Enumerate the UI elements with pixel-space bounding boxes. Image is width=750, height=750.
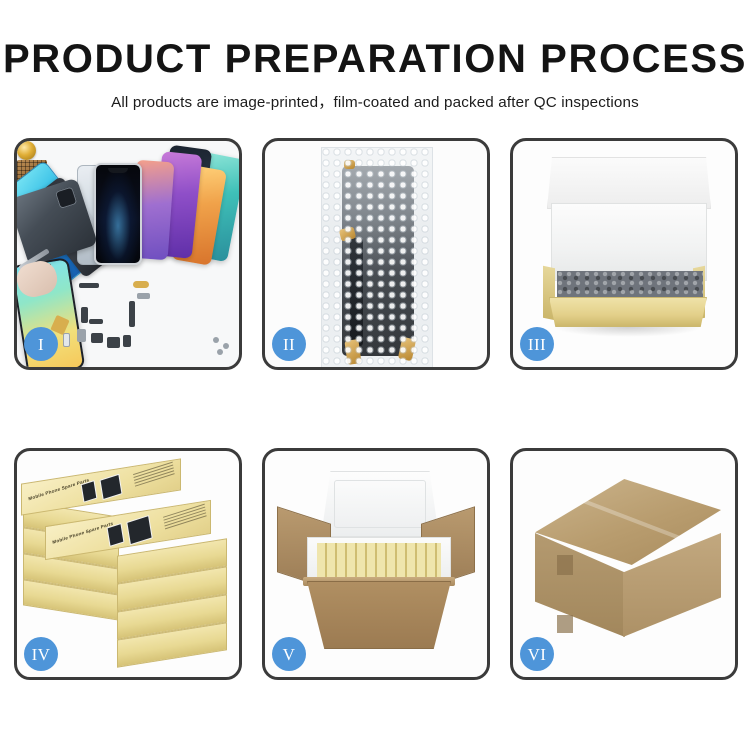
small-part-icon xyxy=(89,319,103,324)
box-spec-lines xyxy=(163,504,207,532)
box-label-text: Mobile Phone Spare Parts xyxy=(52,521,114,545)
carton-tape-icon xyxy=(557,555,573,575)
small-part-icon xyxy=(79,283,99,288)
step-panel-4: Mobile Phone Spare Parts Mobile Phone Sp… xyxy=(14,448,242,680)
step-badge-1: I xyxy=(24,327,58,361)
box-art-screen-icon xyxy=(126,515,152,545)
flex-cable-icon xyxy=(350,238,363,346)
process-step-grid: I II xyxy=(14,138,738,684)
small-part-icon xyxy=(129,301,135,327)
small-part-icon xyxy=(133,281,149,288)
drop-shadow xyxy=(553,327,703,337)
product-preparation-process-page: PRODUCT PREPARATION PROCESS All products… xyxy=(0,0,750,750)
box-label-text: Mobile Phone Spare Parts xyxy=(28,477,90,501)
step-badge-5: V xyxy=(272,637,306,671)
step-panel-6: VI xyxy=(510,448,738,680)
step-panel-2: II xyxy=(262,138,490,370)
gold-coil-part-icon xyxy=(17,141,36,160)
box-art-screen-icon xyxy=(99,474,122,500)
small-part-icon xyxy=(123,335,131,347)
foam-sheet-icon xyxy=(551,203,707,281)
step-panel-3: III xyxy=(510,138,738,370)
retail-box-topmost: Mobile Phone Spare Parts xyxy=(21,458,181,515)
box-art-screen-icon xyxy=(107,523,125,547)
screw-icon xyxy=(217,349,223,355)
small-part-icon xyxy=(137,293,150,299)
small-part-icon xyxy=(81,307,88,323)
step-badge-2: II xyxy=(272,327,306,361)
step-badge-6: VI xyxy=(520,637,554,671)
box-art-screen-icon xyxy=(81,480,98,503)
box-spec-lines xyxy=(133,462,175,489)
step-badge-3: III xyxy=(520,327,554,361)
box-front-panel-icon xyxy=(549,297,707,327)
tape-tab-icon xyxy=(344,160,355,169)
tape-tab-icon xyxy=(398,337,416,361)
small-part-icon xyxy=(91,333,103,343)
phone-black-display-icon xyxy=(94,163,142,265)
header: PRODUCT PREPARATION PROCESS All products… xyxy=(0,0,750,112)
wrapped-contents-icon xyxy=(557,271,703,299)
wrapped-screen-icon xyxy=(342,166,414,356)
step-badge-4: IV xyxy=(24,637,58,671)
carton-tape-icon xyxy=(557,615,573,633)
page-subtitle: All products are image-printed，film-coat… xyxy=(0,90,750,112)
carton-body-icon xyxy=(307,581,451,649)
screw-icon xyxy=(213,337,219,343)
small-part-icon xyxy=(77,329,86,342)
bubble-wrap-bag-icon xyxy=(321,147,433,367)
small-part-icon xyxy=(107,337,120,348)
tape-tab-icon xyxy=(339,226,356,241)
yellow-boxes-inside-icon xyxy=(317,543,441,581)
tape-tab-icon xyxy=(344,339,361,365)
screw-icon xyxy=(223,343,229,349)
small-part-icon xyxy=(63,333,70,347)
step-panel-5: V xyxy=(262,448,490,680)
step-panel-1: I xyxy=(14,138,242,370)
box-lid-icon xyxy=(547,157,711,209)
page-title: PRODUCT PREPARATION PROCESS xyxy=(0,38,750,81)
